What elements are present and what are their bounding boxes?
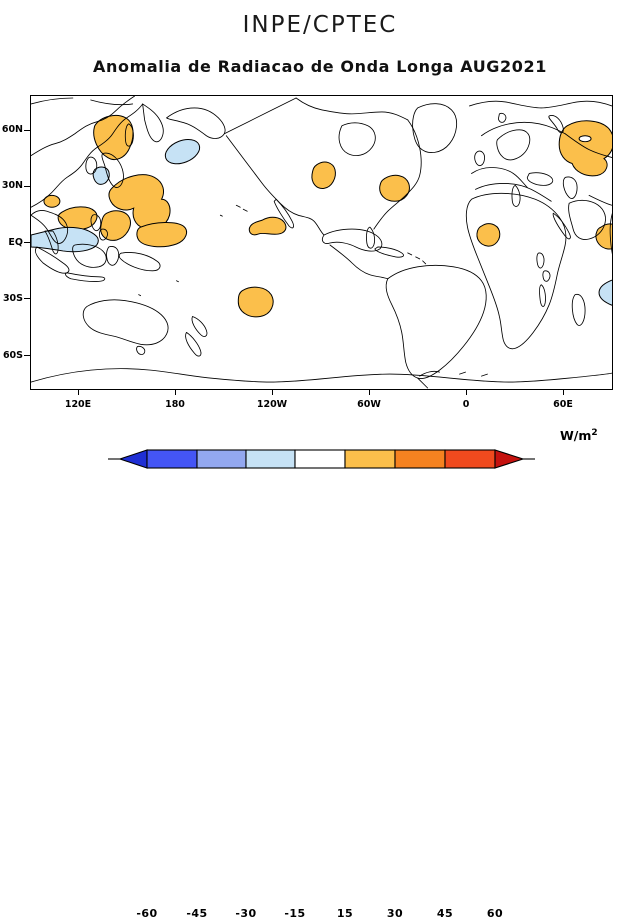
colorbar-units-label: W/m2: [560, 428, 598, 443]
xtick-label-60e: 60E: [533, 399, 593, 410]
coastline-great-lakes-africa: [537, 253, 544, 268]
coastline-kamchatka: [143, 104, 164, 142]
ytick-label-60n: 60N: [0, 124, 23, 135]
coastline-lake-victoria: [543, 271, 550, 281]
coastline-himalaya-line: [589, 195, 612, 205]
coastline-na-north: [296, 98, 408, 120]
coastline-arctic-north-1: [31, 98, 133, 105]
coastline-antarctica-detail: [420, 371, 488, 376]
coastline-scandinavia: [497, 130, 530, 160]
ytick-label-60s: 60S: [0, 350, 23, 361]
island-dot-3: [176, 281, 178, 282]
xtick-label-60w: 60W: [339, 399, 399, 410]
world-map-svg: [31, 96, 612, 389]
ytick-label-eq: EQ: [0, 237, 23, 248]
colorbar-tick--30: -30: [223, 907, 269, 920]
colorbar-band-45-60[interactable]: [445, 450, 495, 468]
coastline-south-america: [386, 265, 486, 378]
colorbar-tick--45: -45: [174, 907, 220, 920]
map-plot-area: [30, 95, 613, 390]
island-dot-2: [139, 295, 141, 296]
colorbar-band--30--15[interactable]: [246, 450, 295, 468]
colorbar-tick-45: 45: [422, 907, 468, 920]
anomaly-japan-sea-negative: [93, 167, 109, 184]
colorbar-band--15-15[interactable]: [295, 450, 345, 468]
xtick-label-120e: 120E: [48, 399, 108, 410]
coastline-lake-tanganyika: [540, 285, 546, 307]
coastline-black-sea: [527, 173, 552, 186]
chart-subtitle: Anomalia de Radiacao de Onda Longa AUG20…: [0, 57, 640, 76]
anomaly-west-pacific-equatorial: [101, 211, 131, 241]
ytick-label-30s: 30S: [0, 293, 23, 304]
coastline-novaya-zemlya: [549, 115, 564, 132]
xtick-label-120w: 120W: [242, 399, 302, 410]
coastline-hudson-bay: [339, 123, 375, 156]
xtick-mark-60e: [563, 390, 564, 395]
coastline-north-america-west: [224, 98, 296, 134]
anomaly-north-atlantic-west: [380, 175, 410, 201]
xtick-label-180: 180: [145, 399, 205, 410]
xtick-label-0: 0: [436, 399, 496, 410]
anomaly-south-pacific-spcz: [238, 287, 273, 317]
anomaly-ne-china-manchuria: [94, 115, 133, 159]
anomaly-shapes-layer: [31, 115, 612, 316]
units-text: W/m: [560, 428, 591, 443]
anomaly-siberia-inner-hole: [579, 136, 591, 142]
coastline-africa: [466, 193, 566, 348]
coastline-florida: [366, 227, 374, 248]
coastline-tasmania: [137, 346, 145, 354]
anomaly-central-pacific-itcz: [249, 217, 286, 235]
coastline-europe-north: [481, 122, 565, 135]
anomaly-equatorial-indian-negative: [599, 277, 612, 309]
anomaly-ne-pacific-baja: [312, 162, 335, 188]
coastline-caspian: [563, 177, 577, 199]
coastline-australia: [83, 300, 168, 345]
coastline-svalbard: [498, 113, 506, 122]
colorbar-band-15-30[interactable]: [345, 450, 395, 468]
island-dot-1: [220, 215, 222, 216]
coastline-antarctica: [31, 369, 612, 382]
colorbar-tick-15: 15: [322, 907, 368, 920]
coastline-cuba: [375, 247, 404, 257]
coastline-java: [65, 273, 104, 282]
xtick-mark-180: [175, 390, 176, 395]
coastline-arctic-north-2: [469, 101, 612, 108]
colorbar-band--45--30[interactable]: [197, 450, 246, 468]
coastline-new-zealand-n: [192, 316, 207, 336]
olr-anomaly-figure: INPE/CPTEC Anomalia de Radiacao de Onda …: [0, 0, 640, 494]
units-exponent: 2: [591, 428, 597, 438]
anomaly-nw-pacific-negative: [162, 135, 203, 169]
xtick-mark-60w: [369, 390, 370, 395]
anomaly-arabian-peninsula: [596, 224, 612, 249]
coastline-iberia-europe-west: [471, 168, 527, 188]
coastline-italy: [512, 185, 520, 206]
coastline-madagascar: [572, 294, 585, 325]
colorbar-tick--15: -15: [272, 907, 318, 920]
coastline-caribbean-islands: [408, 253, 426, 264]
anomaly-sw-pacific-band: [137, 223, 187, 247]
coastline-hawaii: [236, 205, 247, 211]
page-title: INPE/CPTEC: [0, 12, 640, 38]
coastline-korea: [86, 157, 97, 174]
coastline-mediterranean: [475, 183, 551, 201]
xtick-mark-120e: [78, 390, 79, 395]
coastline-alaska-aleutians: [167, 108, 226, 139]
colorbar-tick-60: 60: [472, 907, 518, 920]
colorbar-band--60--45[interactable]: [147, 450, 197, 468]
coastline-sulawesi: [107, 246, 119, 265]
colorbar-band-30-45[interactable]: [395, 450, 445, 468]
colorbar-cap-low[interactable]: [120, 450, 147, 468]
coastline-sa-south-tip: [418, 378, 428, 388]
anomaly-siberia-arctic: [559, 121, 612, 176]
xtick-mark-120w: [272, 390, 273, 395]
colorbar-cap-high[interactable]: [495, 450, 523, 468]
xtick-mark-0: [466, 390, 467, 395]
colorbar-tick-30: 30: [372, 907, 418, 920]
coastline-british-isles: [475, 151, 485, 166]
colorbar-svg: [0, 442, 640, 482]
coastline-central-america: [330, 245, 388, 279]
coastline-red-sea: [553, 213, 570, 239]
coastline-new-guinea: [119, 252, 160, 270]
coastline-new-zealand-s: [186, 332, 201, 356]
anomaly-west-africa-sahel: [477, 224, 500, 246]
colorbar: -60 -45 -30 -15 15 30 45 60: [0, 442, 640, 494]
ytick-label-30n: 30N: [0, 180, 23, 191]
colorbar-tick--60: -60: [124, 907, 170, 920]
